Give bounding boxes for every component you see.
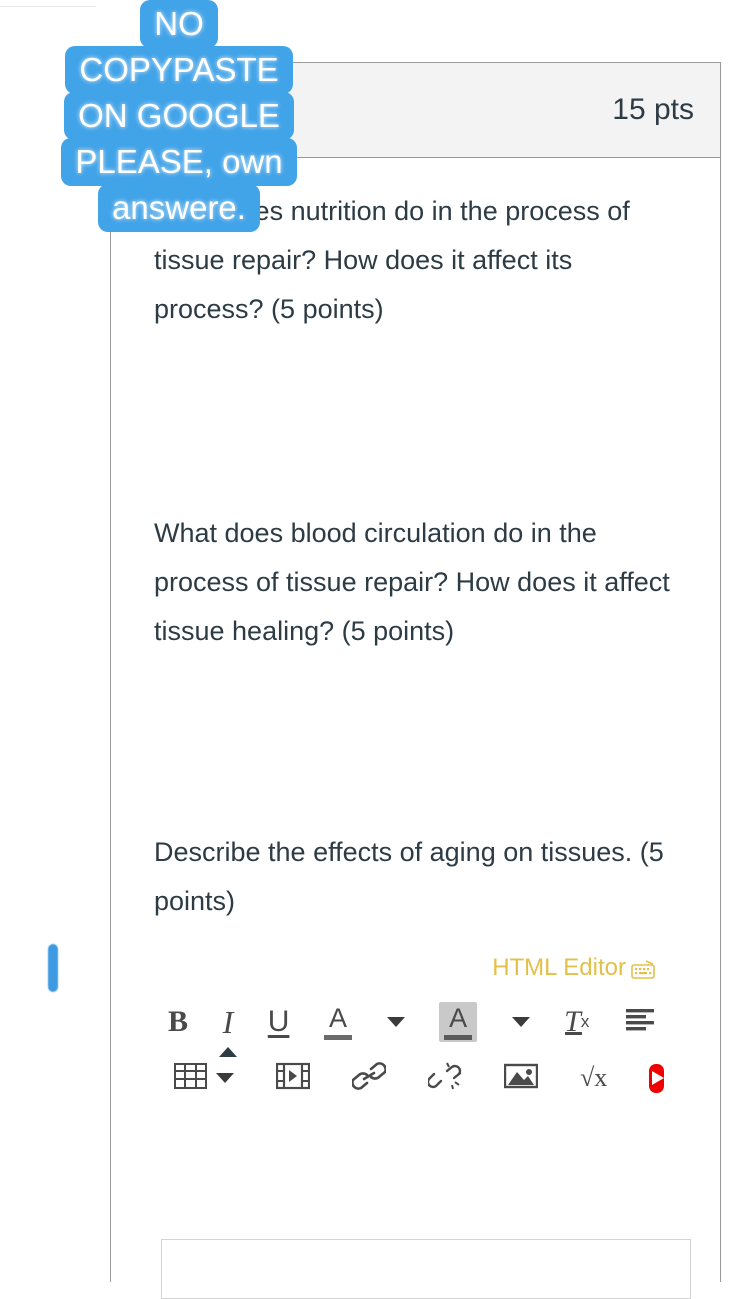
clear-formatting-button[interactable]: T x [564,1005,589,1039]
table-icon [174,1061,208,1096]
keyboard-icon [630,960,656,980]
film-icon [276,1062,310,1095]
table-dropdown[interactable] [216,1073,234,1083]
sticker-line-1: NO [140,0,218,48]
text-color-swatch [324,1035,352,1040]
table-button[interactable] [174,1061,234,1096]
align-button[interactable] [624,1007,656,1038]
highlight-color-dropdown[interactable] [512,1017,530,1027]
question-header: n 5 15 pts [111,63,720,158]
link-icon [352,1061,386,1096]
underline-button[interactable]: U [268,1005,290,1039]
italic-button[interactable]: I [223,1004,234,1041]
question-spacer-2 [154,656,680,828]
html-editor-link[interactable]: HTML Editor [492,956,656,980]
question-card: n 5 15 pts What does nutrition do in the… [110,62,721,1282]
question-text-3: Describe the effects of aging on tissues… [154,828,680,926]
unlink-button[interactable] [428,1061,462,1096]
bold-button[interactable]: B [168,1005,188,1039]
youtube-button[interactable] [649,1064,664,1093]
italic-icon: I [223,1004,234,1041]
math-button[interactable]: √x [580,1063,607,1093]
media-button[interactable] [276,1062,310,1095]
highlight-color-swatch [444,1035,472,1040]
toolbar-row-1: B I U A A [168,994,656,1050]
editor-toolbar: B I U A A [154,994,680,1106]
highlight-color-button[interactable]: A [439,1002,477,1042]
clear-formatting-x: x [581,1012,590,1032]
question-points-badge: 15 pts [612,93,694,127]
answer-input[interactable] [161,1239,691,1299]
html-editor-row: HTML Editor [154,956,680,980]
align-left-icon [624,1007,656,1038]
toolbar-row-2: √x [168,1050,656,1106]
cursor-mark [48,944,58,992]
question-title: n 5 [129,93,171,127]
highlight-color-icon: A [449,1005,467,1032]
question-text-1: What does nutrition do in the process of… [154,187,680,334]
question-body: What does nutrition do in the process of… [111,159,720,1282]
image-button[interactable] [504,1061,538,1096]
underline-icon: U [268,1005,290,1039]
text-color-icon: A [329,1005,347,1032]
youtube-icon [652,1071,664,1085]
html-editor-label: HTML Editor [492,956,626,980]
italic-active-caret-icon [219,1047,237,1057]
text-color-button[interactable]: A [324,1005,352,1040]
clear-formatting-underline [565,1032,582,1035]
text-color-dropdown[interactable] [387,1017,405,1027]
question-text-2: What does blood circulation do in the pr… [154,509,680,656]
question-spacer-1 [154,334,680,509]
top-divider [0,6,96,7]
image-icon [504,1061,538,1096]
link-button[interactable] [352,1061,386,1096]
bold-icon: B [168,1005,188,1039]
unlink-icon [428,1061,462,1096]
